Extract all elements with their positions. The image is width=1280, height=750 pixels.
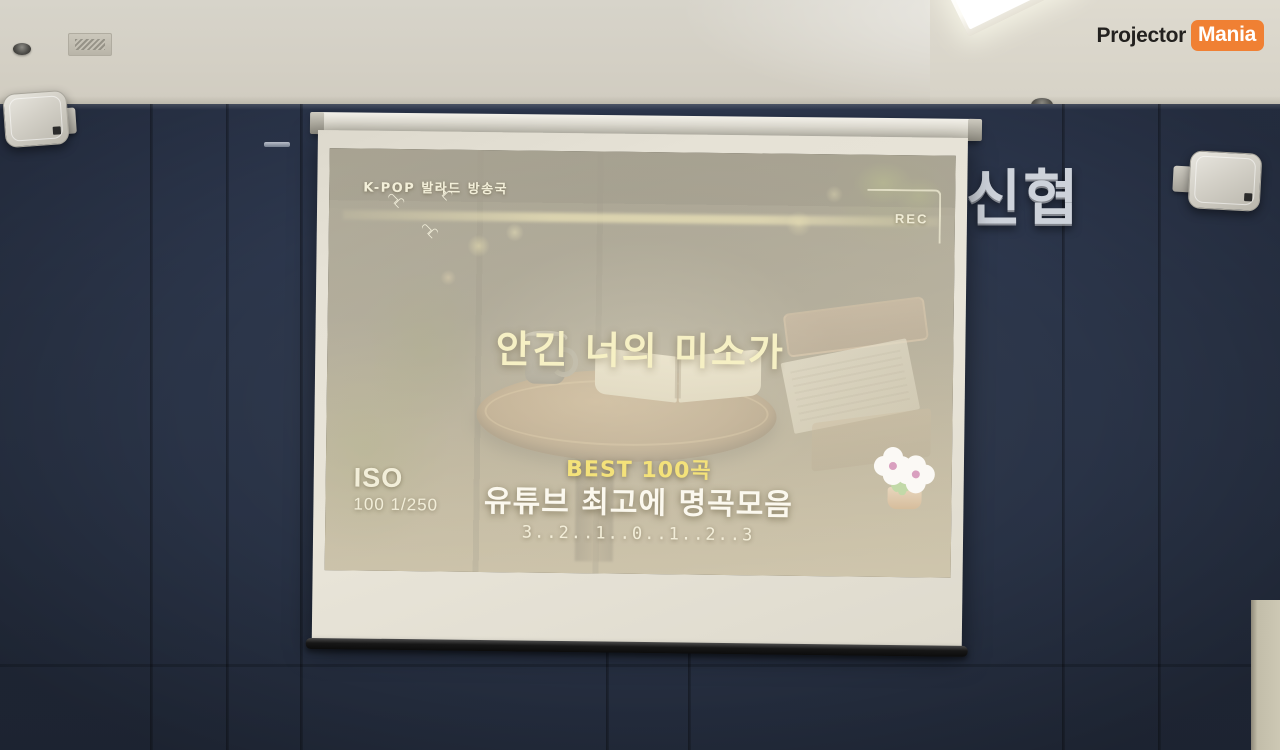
- sticker-flower-center: [889, 462, 897, 470]
- projector-screen: K-POP 발라드 방송국 REC 안긴 너의 미소가 BEST 100곡 유튜…: [312, 130, 968, 648]
- speaker-badge-icon: [1244, 193, 1252, 201]
- wall-panel-band: [0, 664, 1280, 667]
- speaker-left: [2, 90, 70, 148]
- watermark-word-mania: Mania: [1191, 20, 1264, 51]
- speaker-right: [1188, 150, 1263, 212]
- coffee-mug: [525, 336, 566, 384]
- door-edge-strip: [1251, 600, 1280, 750]
- wall-top-trim: [0, 104, 1280, 110]
- book-spine: [675, 354, 682, 398]
- sprinkler-head-left-icon: [13, 43, 31, 55]
- wall-panel-seam: [300, 104, 303, 750]
- wall-panel-seam: [226, 104, 229, 750]
- screenshot-root: 신협: [0, 0, 1280, 750]
- wall-panel-seam: [1158, 104, 1161, 750]
- wall-panel-seam: [150, 104, 153, 750]
- book-page-left: [595, 347, 677, 403]
- speaker-badge-icon: [53, 126, 62, 135]
- book-page-right: [679, 349, 762, 403]
- open-book: [595, 351, 762, 399]
- sticker-flower-center: [912, 470, 920, 478]
- flower-pot-sticker-icon: [871, 449, 938, 512]
- housing-end-cap-right: [968, 119, 982, 141]
- wall-sign-shinhyup: 신협: [966, 150, 1080, 237]
- projected-image: K-POP 발라드 방송국 REC 안긴 너의 미소가 BEST 100곡 유튜…: [325, 148, 956, 578]
- ceiling-vent-icon: [68, 33, 112, 56]
- wall-sign-text: 신협: [966, 150, 1080, 237]
- projectormania-watermark: Projector Mania: [1096, 20, 1264, 51]
- rec-corner-bracket: [867, 189, 942, 244]
- wall-clip-bracket: [264, 142, 290, 147]
- watermark-word-projector: Projector: [1096, 24, 1191, 48]
